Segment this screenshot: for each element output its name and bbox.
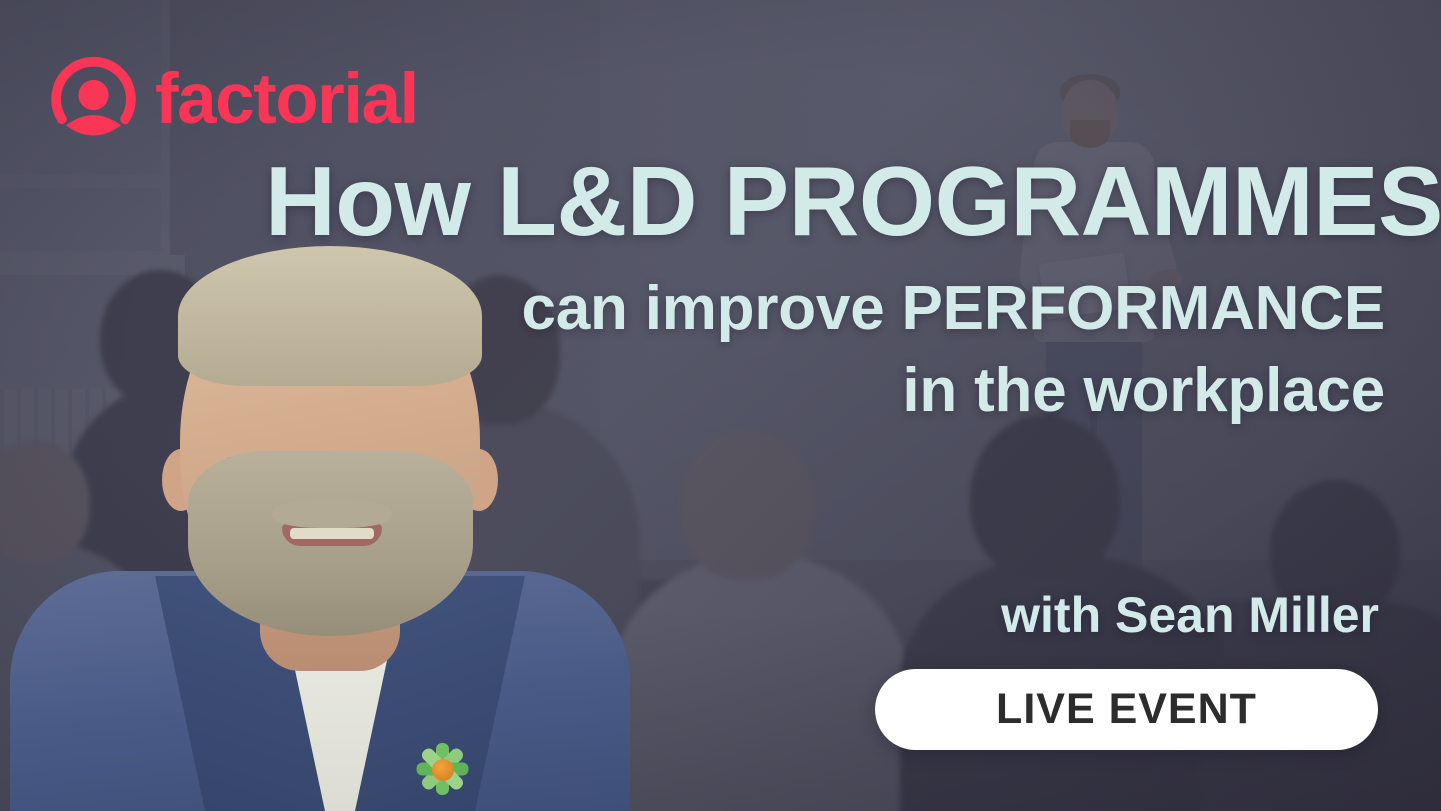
speaker-credit: with Sean Miller — [1001, 590, 1379, 640]
speaker-mustache — [272, 498, 392, 528]
webinar-promo-banner: factorial How L&D PROGRAMMES can improve… — [0, 0, 1441, 811]
headline-block: How L&D PROGRAMMES can improve PERFORMAN… — [265, 152, 1385, 432]
factorial-logo[interactable]: factorial — [49, 55, 418, 144]
headline-line-3: in the workplace — [265, 350, 1385, 432]
live-event-badge[interactable]: LIVE EVENT — [875, 669, 1378, 750]
headline-line-2: can improve PERFORMANCE — [265, 268, 1385, 350]
headline-line-1: How L&D PROGRAMMES — [265, 152, 1385, 250]
speaker-teeth — [290, 528, 374, 539]
factorial-wordmark: factorial — [155, 64, 418, 135]
live-event-badge-label: LIVE EVENT — [996, 685, 1257, 734]
flower-pin-center — [432, 759, 454, 781]
factorial-person-circle-icon — [49, 55, 138, 144]
speaker-flower-pin — [414, 743, 472, 801]
